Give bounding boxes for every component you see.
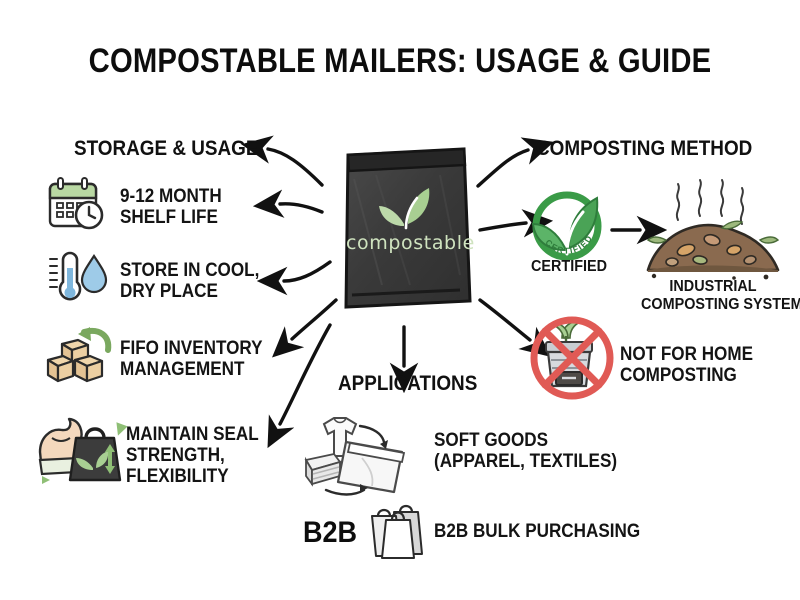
item-label-soft-goods: SOFT GOODS (APPAREL, TEXTILES) (434, 430, 617, 472)
calendar-clock-icon (44, 176, 108, 232)
caption-line: INDUSTRIAL (641, 278, 785, 296)
apparel-mailer-icon (300, 412, 422, 498)
infographic-canvas: COMPOSTABLE MAILERS: USAGE & GUIDE (0, 0, 800, 600)
caption-line: COMPOSTING SYSTEM (641, 296, 785, 314)
section-heading-applications: APPLICATIONS (338, 372, 477, 396)
boxes-rotate-icon (44, 326, 116, 384)
label-line: COMPOSTING (620, 365, 753, 386)
label-line: STRENGTH, (126, 445, 259, 466)
label-line: SOFT GOODS (434, 430, 617, 451)
shopping-bags-icon (358, 498, 436, 560)
item-label-fifo: FIFO INVENTORY MANAGEMENT (120, 338, 263, 380)
item-label-maintain-seal: MAINTAIN SEAL STRENGTH, FLEXIBILITY (126, 424, 259, 487)
label-line: STORE IN COOL, (120, 260, 259, 281)
leaf-logo-icon (377, 182, 435, 230)
label-line: (APPAREL, TEXTILES) (434, 451, 617, 472)
label-line: 9-12 MONTH (120, 186, 222, 207)
no-home-composting-icon (528, 312, 616, 400)
section-heading-composting: COMPOSTING METHOD (536, 137, 752, 161)
item-label-b2b-bulk: B2B BULK PURCHASING (434, 521, 640, 542)
label-line: MANAGEMENT (120, 359, 263, 380)
bag-product-name: compostable (346, 232, 466, 254)
section-heading-storage: STORAGE & USAGE (74, 137, 258, 161)
compost-pile-icon (638, 178, 788, 288)
label-line: DRY PLACE (120, 281, 259, 302)
page-title: COMPOSTABLE MAILERS: USAGE & GUIDE (56, 42, 744, 81)
b2b-mark: B2B (303, 516, 357, 550)
item-label-store-cool: STORE IN COOL, DRY PLACE (120, 260, 259, 302)
label-line: FLEXIBILITY (126, 466, 259, 487)
flexing-arm-bag-icon (36, 414, 128, 486)
caption-certified: CERTIFIED (524, 258, 614, 276)
caption-industrial-composting: INDUSTRIAL COMPOSTING SYSTEM (641, 278, 785, 314)
label-line: FIFO INVENTORY (120, 338, 263, 359)
item-label-shelf-life: 9-12 MONTH SHELF LIFE (120, 186, 222, 228)
thermometer-droplet-icon (46, 250, 110, 306)
item-label-not-home-composting: NOT FOR HOME COMPOSTING (620, 344, 753, 386)
label-line: NOT FOR HOME (620, 344, 753, 365)
label-line: MAINTAIN SEAL (126, 424, 259, 445)
certified-leaf-badge-icon: CERTIFIED (529, 190, 609, 264)
label-line: SHELF LIFE (120, 207, 222, 228)
